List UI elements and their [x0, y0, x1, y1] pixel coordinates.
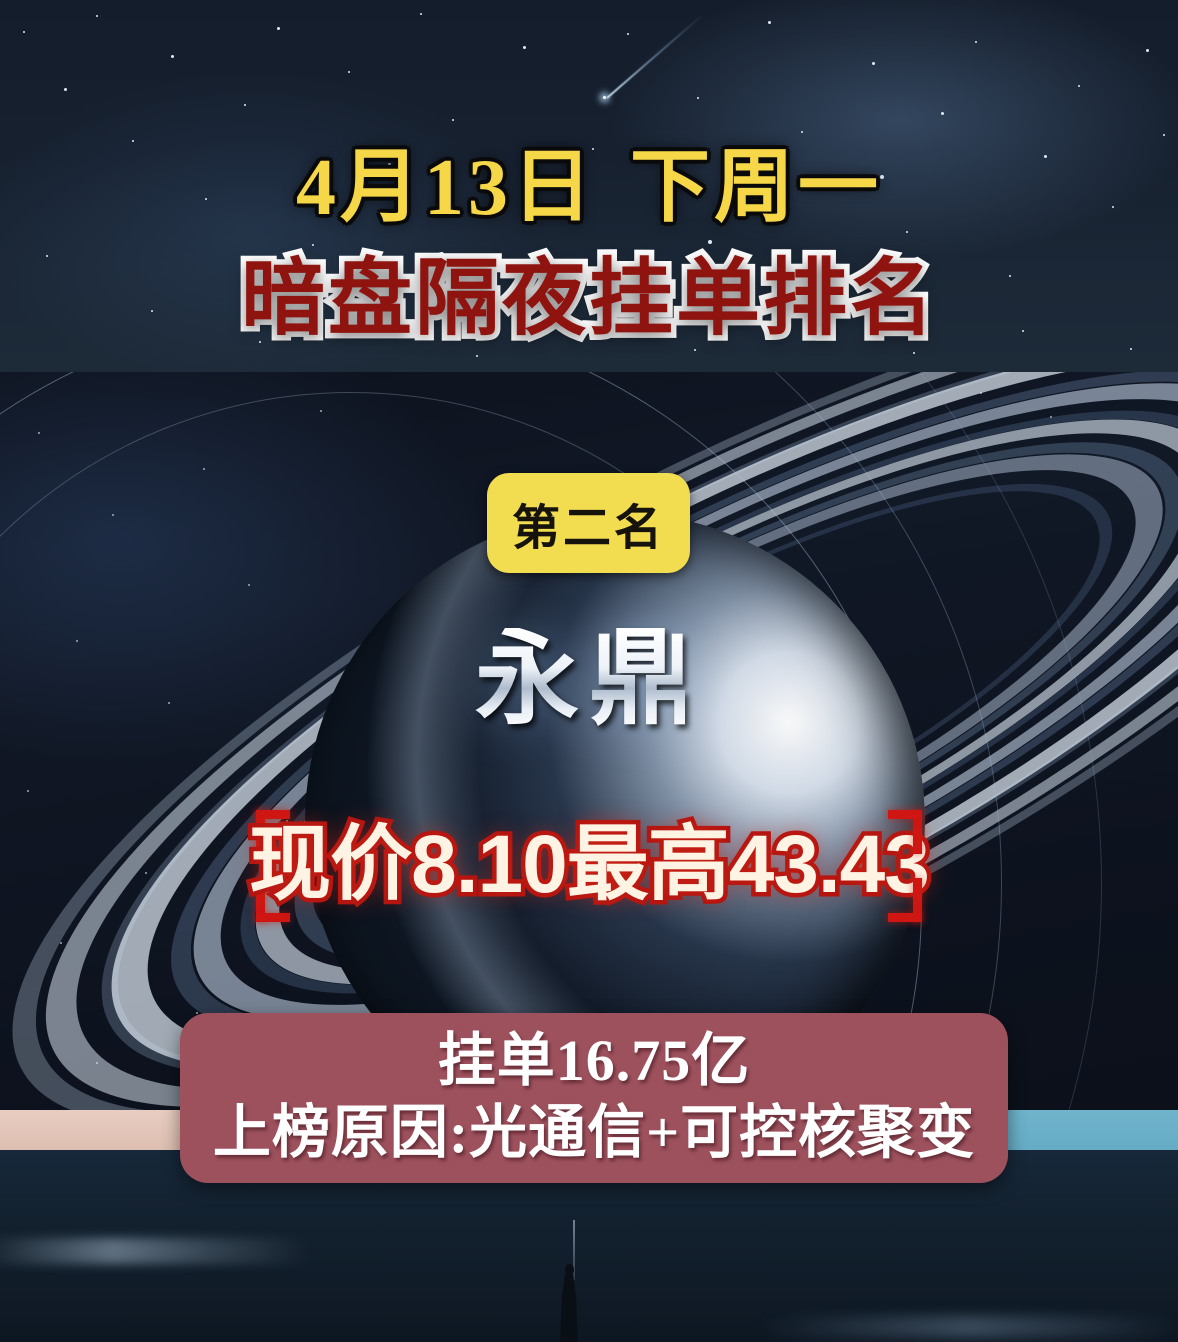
listing-reason-line: 上榜原因:光通信+可控核聚变 — [213, 1098, 975, 1168]
info-box: 挂单16.75亿 上榜原因:光通信+可控核聚变 — [180, 1013, 1008, 1183]
order-amount-line: 挂单16.75亿 — [438, 1028, 751, 1094]
water-reflection-glow — [0, 1238, 310, 1264]
person-body — [559, 1274, 579, 1342]
rank-badge-label: 第二名 — [512, 488, 665, 558]
shooting-star-icon — [603, 96, 606, 99]
bracket-right-bottom-icon — [886, 810, 922, 922]
price-text: 现价8.10最高43.43 — [0, 806, 1178, 924]
price-row: 现价8.10最高43.43 — [0, 806, 1178, 924]
water-reflection-glow — [760, 1316, 1178, 1338]
poster-date-text: 4月13日 — [296, 144, 596, 232]
person-head — [565, 1264, 574, 1275]
rank-badge: 第二名 — [487, 473, 690, 573]
person-silhouette — [556, 1264, 582, 1342]
stock-name: 永鼎 — [0, 628, 1178, 732]
poster-date-title: 4月13日下周一 — [0, 148, 1178, 228]
poster-main-title: 暗盘隔夜挂单排名 — [0, 258, 1178, 342]
poster-canvas: 4月13日下周一 暗盘隔夜挂单排名 — [0, 0, 1178, 1342]
poster-weekday-text: 下周一 — [630, 144, 882, 232]
